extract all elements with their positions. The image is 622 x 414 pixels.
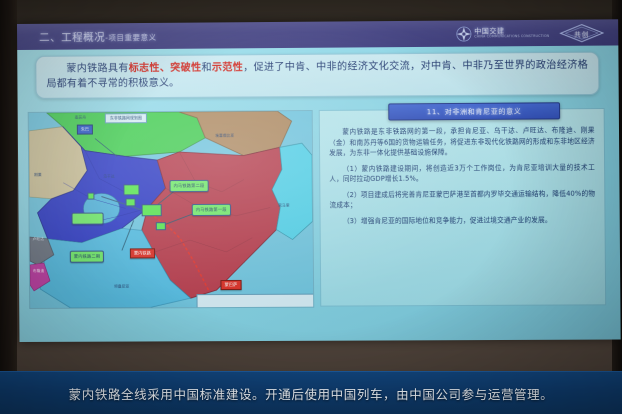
slide-section-number: 二、 xyxy=(39,32,61,44)
map-marker-juba: 朱巴 xyxy=(77,124,93,134)
slide-section-subtitle: -项目重要意义 xyxy=(105,33,156,42)
map-callout: 内马铁路第二段 xyxy=(169,180,208,192)
significance-paragraph: （2）项目建成后将完善肯尼亚蒙巴萨港至首都内罗毕交通运输结构，降低40%的物流成… xyxy=(329,188,595,211)
projector-photo-scene: 二、工程概况-项目重要意义 中国交建 CHINA COMMUNICATIONS … xyxy=(0,0,622,414)
significance-paragraph: 蒙内铁路是东非铁路网的第一段，承担肯尼亚、乌干达、卢旺达、布隆迪、刚果（金）和南… xyxy=(329,125,595,158)
map-callout: 内马铁路第一段 xyxy=(192,204,231,216)
ccc-logo-text: 中国交建 CHINA COMMUNICATIONS CONSTRUCTION xyxy=(474,28,549,39)
ccc-logo: 中国交建 CHINA COMMUNICATIONS CONSTRUCTION xyxy=(456,26,549,42)
slide-content-area: 蒙内铁路具有标志性、突破性和示范性，促进了中肯、中非的经济文化交流，对中肯、中非… xyxy=(17,45,620,342)
map-red-marker: 蒙内铁路 xyxy=(130,248,155,258)
map-callout xyxy=(72,213,104,225)
map-city-marker xyxy=(123,184,139,195)
compass-star-icon xyxy=(456,26,471,41)
map-city-marker xyxy=(156,222,166,230)
significance-paragraph: （3）增强肯尼亚的国际地位和竞争能力，促进过境交通产业的发展。 xyxy=(330,214,596,226)
diamond-logo: 共创 xyxy=(559,23,604,42)
statement-highlight-2: 示范性 xyxy=(212,62,243,73)
east-africa-railway-map: 南苏丹 埃塞俄比亚 刚果 乌干达 索马里 坦桑尼亚 卢旺达 布隆迪 东非铁路网规… xyxy=(28,110,315,309)
map-city-marker xyxy=(126,198,136,206)
slide-section-title: 工程概况 xyxy=(61,31,105,43)
map-city-marker xyxy=(142,204,162,216)
map-country-label: 布隆迪 xyxy=(33,269,44,274)
map-title-label: 东非铁路网规划图 xyxy=(105,113,147,123)
ccc-logo-en: CHINA COMMUNICATIONS CONSTRUCTION xyxy=(474,35,549,39)
projected-slide: 二、工程概况-项目重要意义 中国交建 CHINA COMMUNICATIONS … xyxy=(17,19,621,342)
map-country-label: 坦桑尼亚 xyxy=(114,284,129,289)
map-country-label: 卢旺达 xyxy=(33,237,44,242)
slide-statement-box: 蒙内铁路具有标志性、突破性和示范性，促进了中肯、中非的经济文化交流，对中肯、中非… xyxy=(35,52,599,99)
significance-panel-body: 蒙内铁路是东非铁路网的第一段，承担肯尼亚、乌干达、卢旺达、布隆迪、刚果（金）和南… xyxy=(320,109,605,237)
statement-highlight-1: 标志性、突破性 xyxy=(129,63,202,75)
map-callout: 蒙内铁路二期 xyxy=(70,251,104,263)
map-country-label: 乌干达 xyxy=(103,174,114,179)
map-country-label: 索马里 xyxy=(278,203,290,208)
map-country-label: 埃塞俄比亚 xyxy=(215,134,234,139)
map-country-label: 南苏丹 xyxy=(75,116,86,121)
map-legend xyxy=(196,294,314,309)
statement-part-2: 和 xyxy=(201,63,212,74)
wall-left-edge xyxy=(0,0,17,372)
significance-paragraph: （1）蒙内铁路建设期间，将创造近3万个工作岗位，为肯尼亚培训大量的技术工人，同时… xyxy=(329,162,595,185)
diamond-logo-label: 共创 xyxy=(574,28,589,38)
map-country-label: 刚果 xyxy=(34,173,42,178)
caption-text: 蒙内铁路全线采用中国标准建设。开通后使用中国列车，由中国公司参与运营管理。 xyxy=(69,384,554,403)
significance-panel-header-text: 11、对非洲和肯尼亚的意义 xyxy=(427,106,522,117)
slide-header-logos: 中国交建 CHINA COMMUNICATIONS CONSTRUCTION 共… xyxy=(456,23,604,43)
significance-panel-header: 11、对非洲和肯尼亚的意义 xyxy=(388,102,560,120)
broadcast-caption-bar: 蒙内铁路全线采用中国标准建设。开通后使用中国列车，由中国公司参与运营管理。 xyxy=(0,371,622,414)
statement-part-1: 蒙内铁路具有 xyxy=(66,63,128,74)
slide-statement-text: 蒙内铁路具有标志性、突破性和示范性，促进了中肯、中非的经济文化交流，对中肯、中非… xyxy=(46,58,588,92)
map-graphic xyxy=(29,111,314,308)
slide-header-title: 二、工程概况-项目重要意义 xyxy=(39,29,157,45)
map-city-marker xyxy=(87,193,94,200)
significance-panel: 11、对非洲和肯尼亚的意义 蒙内铁路是东非铁路网的第一段，承担肯尼亚、乌干达、卢… xyxy=(319,108,606,307)
map-red-marker: 蒙巴萨 xyxy=(220,280,241,290)
